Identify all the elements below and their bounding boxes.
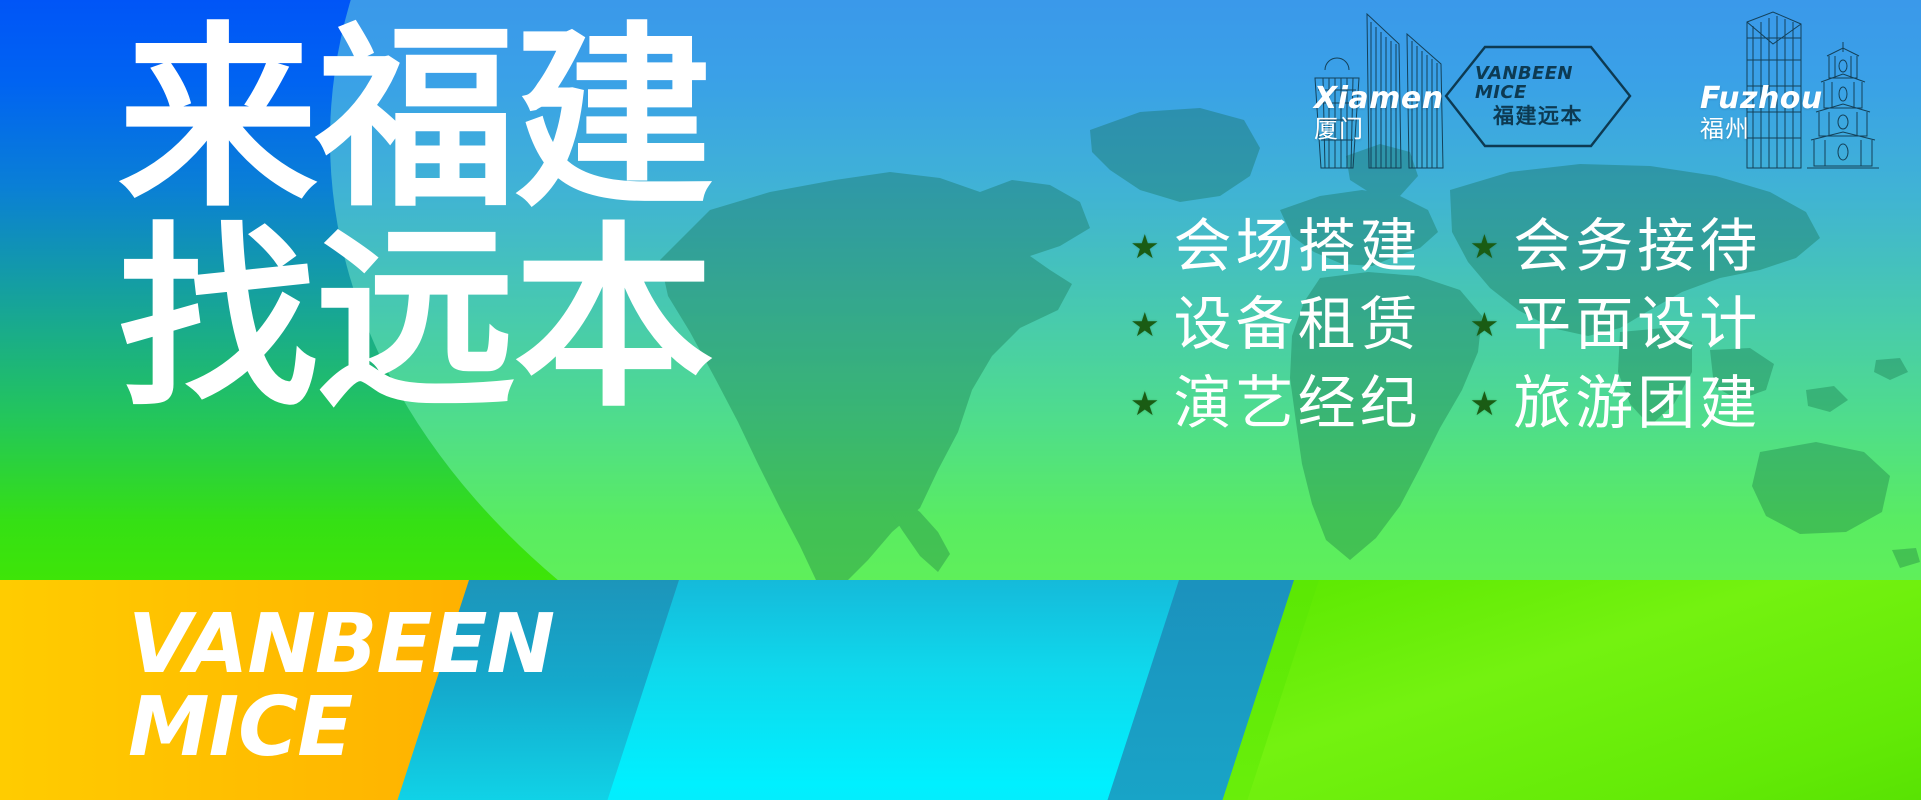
service-label: 会场搭建 xyxy=(1174,212,1422,280)
vanbeen-mice-wordmark: VANBEEN MICE xyxy=(128,606,554,767)
bottom-brand-bar: VANBEEN MICE xyxy=(0,580,1921,800)
city-fuzhou-en: Fuzhou xyxy=(1700,84,1823,114)
service-item: ★ 演艺经纪 xyxy=(1130,369,1422,437)
wordmark-line-1: VANBEEN xyxy=(128,606,554,685)
city-xiamen-cn: 厦门 xyxy=(1314,117,1444,141)
hexagon-en-line-2: MICE xyxy=(1475,84,1527,102)
star-icon: ★ xyxy=(1130,387,1160,420)
city-logo-strip: Xiamen 厦门 Fuzhou 福州 VANBEEN MICE 福建远本 xyxy=(1295,8,1915,178)
star-icon: ★ xyxy=(1130,308,1160,341)
star-icon: ★ xyxy=(1470,387,1500,420)
star-icon: ★ xyxy=(1470,230,1500,263)
city-label-fuzhou: Fuzhou 福州 xyxy=(1700,84,1823,141)
hexagon-logo-text: VANBEEN MICE 福建远本 xyxy=(1443,44,1633,149)
diagonal-stripe-green xyxy=(1231,580,1921,800)
headline-line-1: 来福建 xyxy=(118,26,712,214)
wordmark-line-2: MICE xyxy=(128,689,554,768)
service-item: ★ 设备租赁 xyxy=(1130,290,1422,358)
star-icon: ★ xyxy=(1130,230,1160,263)
promotional-banner: 来福建 找远本 xyxy=(0,0,1921,800)
service-item: ★ 会务接待 xyxy=(1470,212,1762,280)
city-xiamen-en: Xiamen xyxy=(1314,84,1444,114)
vanbeen-hexagon-logo: VANBEEN MICE 福建远本 xyxy=(1443,44,1633,149)
city-label-xiamen: Xiamen 厦门 xyxy=(1314,84,1444,141)
hexagon-cn-text: 福建远本 xyxy=(1493,106,1583,127)
service-item: ★ 平面设计 xyxy=(1470,290,1762,358)
service-item: ★ 会场搭建 xyxy=(1130,212,1422,280)
services-list: ★ 会场搭建 ★ 会务接待 ★ 设备租赁 ★ 平面设计 ★ 演艺经纪 ★ 旅游团… xyxy=(1130,212,1761,437)
star-icon: ★ xyxy=(1470,308,1500,341)
service-label: 演艺经纪 xyxy=(1174,369,1422,437)
headline: 来福建 找远本 xyxy=(118,26,700,414)
service-label: 设备租赁 xyxy=(1174,290,1422,358)
service-label: 会务接待 xyxy=(1513,212,1761,280)
city-fuzhou-cn: 福州 xyxy=(1700,117,1823,141)
service-item: ★ 旅游团建 xyxy=(1470,369,1762,437)
service-label: 旅游团建 xyxy=(1513,369,1761,437)
banner-main-stage: 来福建 找远本 xyxy=(0,0,1921,580)
headline-line-2: 找远本 xyxy=(118,226,712,414)
service-label: 平面设计 xyxy=(1513,290,1761,358)
